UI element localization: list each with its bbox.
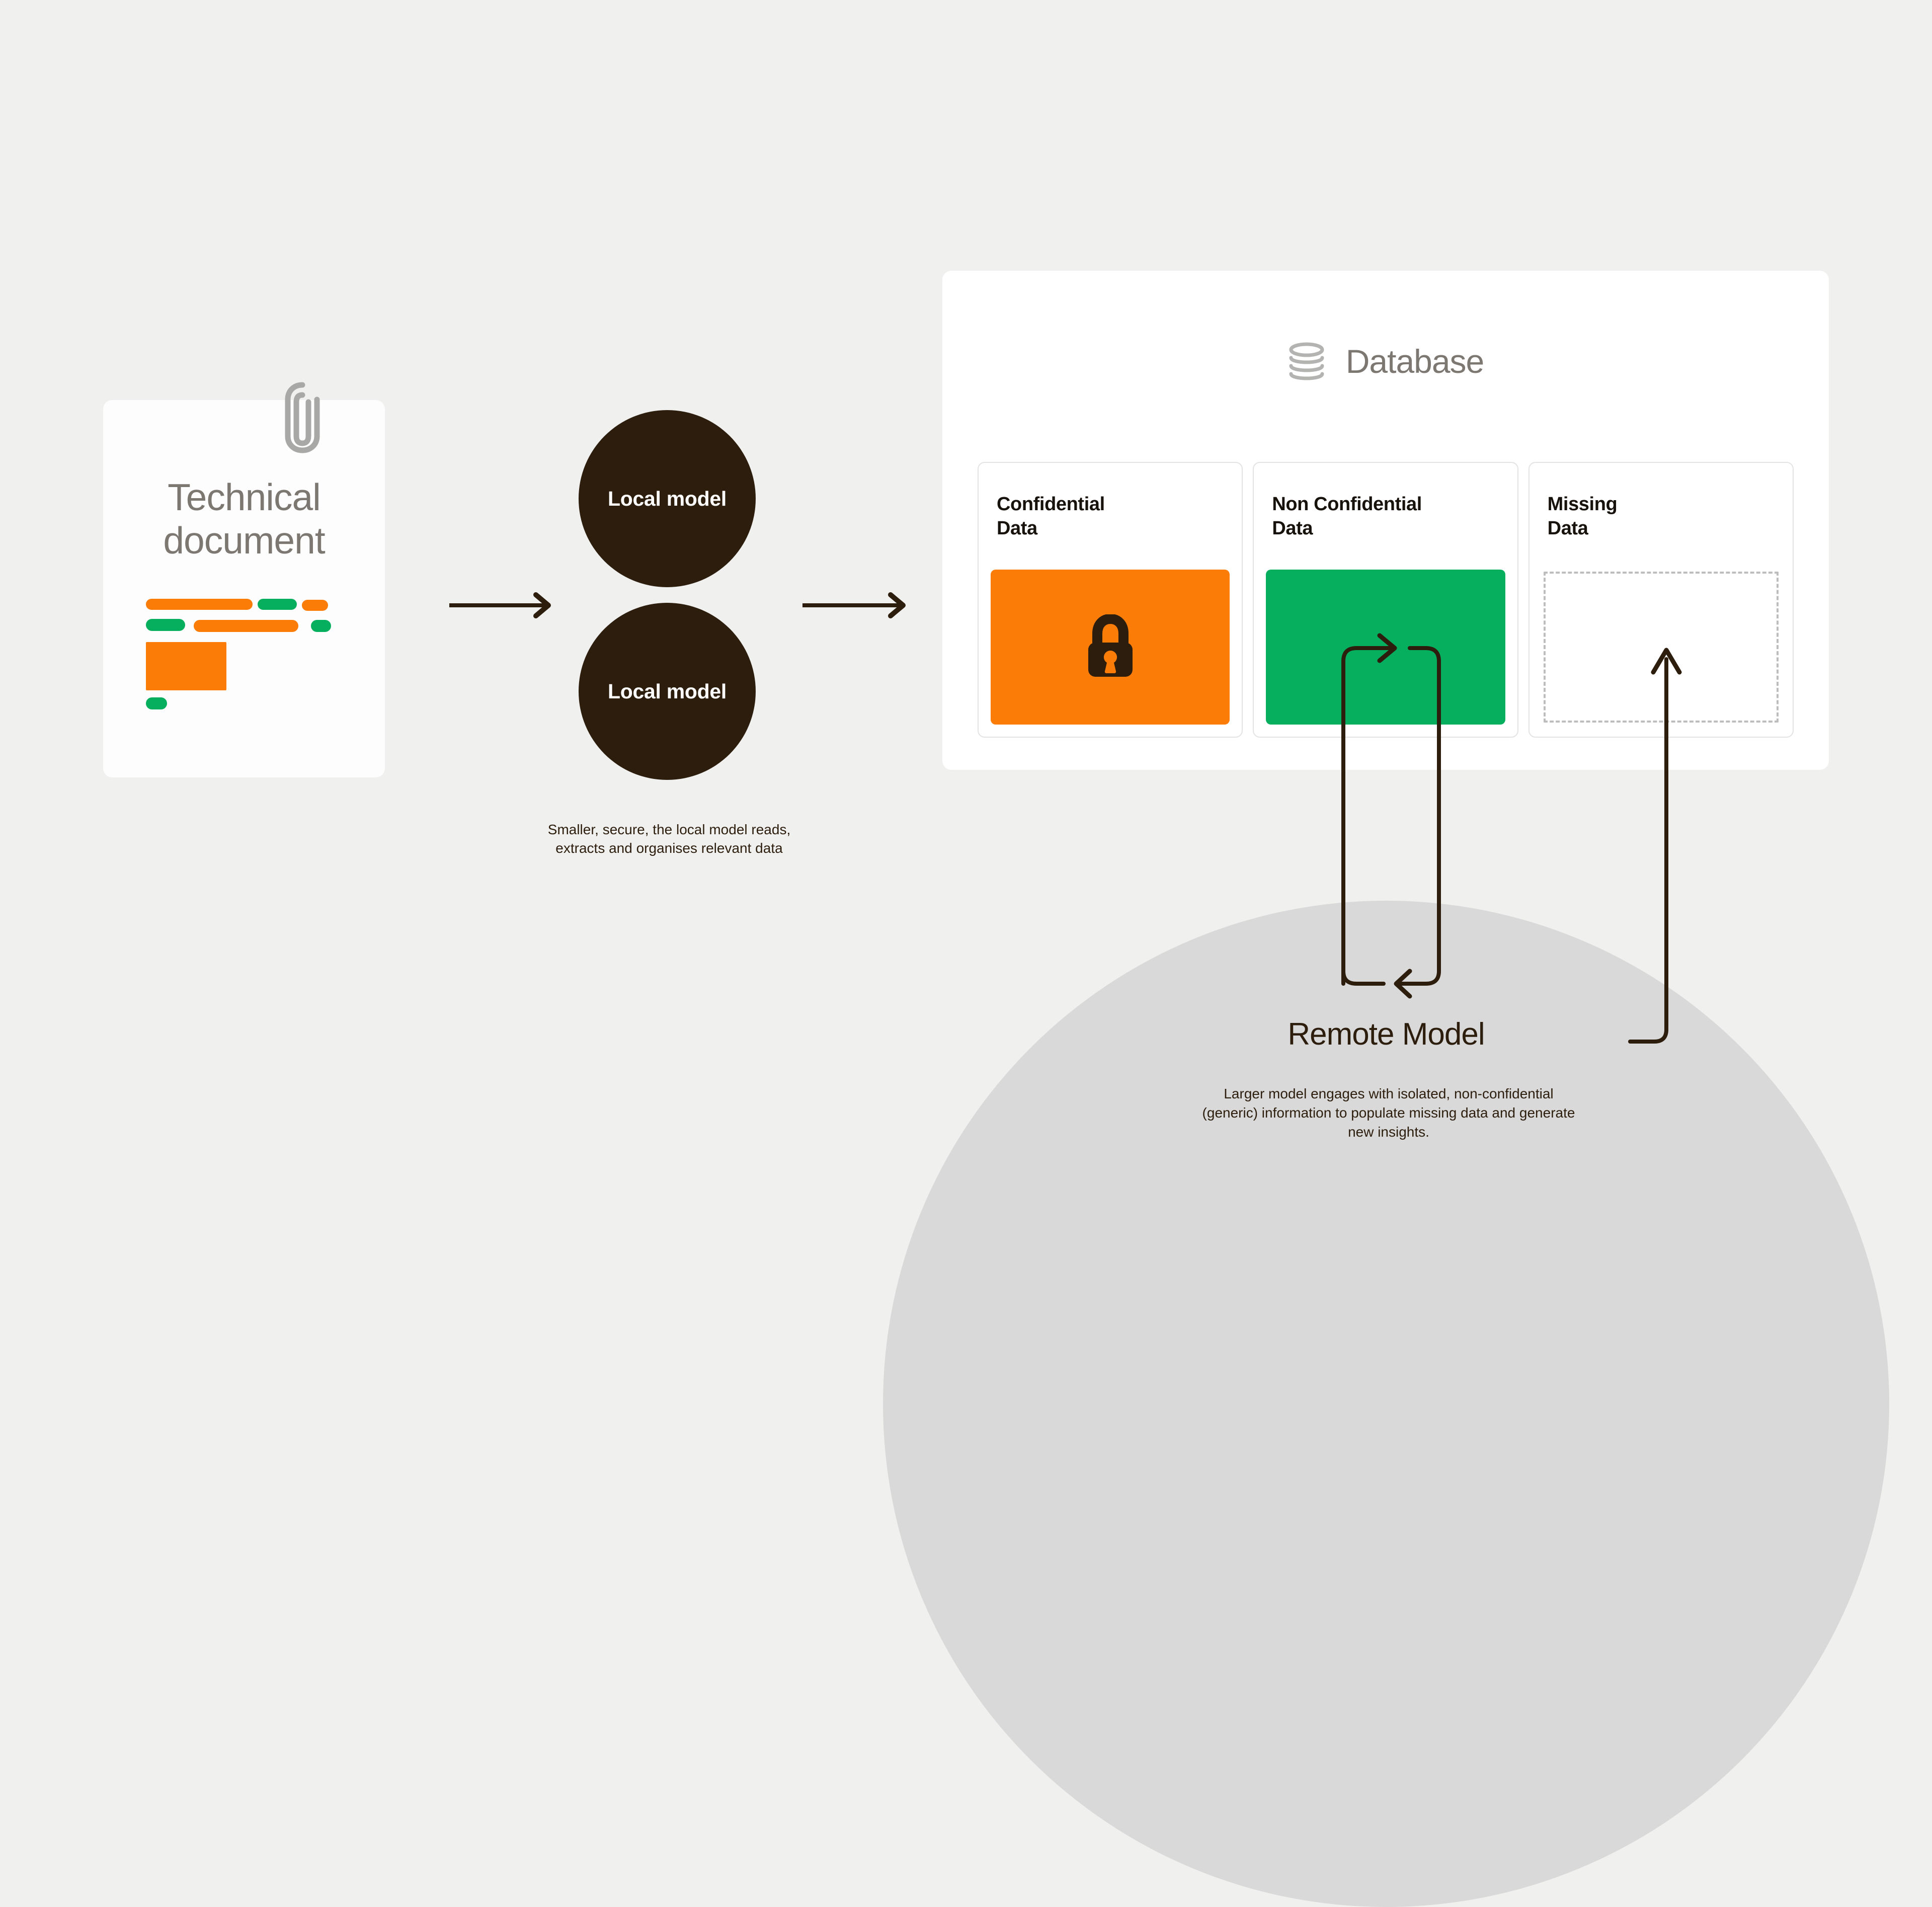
content-bar	[146, 697, 167, 709]
card-title-line-1: Non Confidential	[1272, 492, 1507, 516]
card-title-line-2: Data	[1272, 516, 1507, 540]
database-cylinder-icon	[1287, 341, 1326, 381]
local-to-database-arrow	[802, 595, 903, 616]
card-title-line-2: Data	[1548, 516, 1783, 540]
content-block	[146, 642, 226, 690]
content-bar	[258, 599, 297, 610]
content-bar	[194, 620, 298, 632]
local-model-node-2[interactable]: Local model	[579, 603, 756, 780]
card-missing-data[interactable]: Missing Data	[1528, 462, 1794, 738]
missing-data-placeholder	[1544, 572, 1779, 723]
confidential-swatch	[991, 570, 1230, 725]
local-model-caption: Smaller, secure, the local model reads, …	[533, 820, 805, 857]
local-model-label: Local model	[608, 680, 727, 703]
paperclip-icon	[283, 381, 322, 454]
document-title: Technical document	[103, 475, 385, 562]
lock-icon	[1081, 614, 1140, 680]
local-model-label: Local model	[608, 487, 727, 511]
card-title-line-2: Data	[997, 516, 1232, 540]
doc-to-local-arrow	[449, 595, 548, 616]
database-panel: Database Confidential Data Non	[942, 271, 1829, 770]
document-content-bars	[146, 599, 347, 735]
diagram-canvas: Technical document Local model Local mod…	[0, 0, 1932, 1288]
remote-model-title: Remote Model	[1107, 1016, 1665, 1052]
database-title: Database	[1346, 342, 1484, 380]
database-header: Database	[942, 341, 1829, 381]
non-confidential-swatch	[1266, 570, 1505, 725]
document-title-line-2: document	[103, 519, 385, 562]
card-title: Confidential Data	[997, 492, 1232, 540]
document-title-line-1: Technical	[103, 475, 385, 519]
content-bar	[146, 599, 253, 610]
content-bar	[302, 600, 328, 611]
card-title-line-1: Confidential	[997, 492, 1232, 516]
card-title-line-1: Missing	[1548, 492, 1783, 516]
card-non-confidential-data[interactable]: Non Confidential Data	[1253, 462, 1518, 738]
local-model-node-1[interactable]: Local model	[579, 410, 756, 587]
database-cards: Confidential Data Non Confidential Data	[978, 462, 1794, 738]
content-bar	[146, 619, 185, 631]
content-bar	[311, 620, 331, 632]
card-title: Non Confidential Data	[1272, 492, 1507, 540]
card-confidential-data[interactable]: Confidential Data	[978, 462, 1243, 738]
technical-document-card[interactable]: Technical document	[103, 400, 385, 777]
remote-model-caption: Larger model engages with isolated, non-…	[1197, 1084, 1580, 1142]
card-title: Missing Data	[1548, 492, 1783, 540]
